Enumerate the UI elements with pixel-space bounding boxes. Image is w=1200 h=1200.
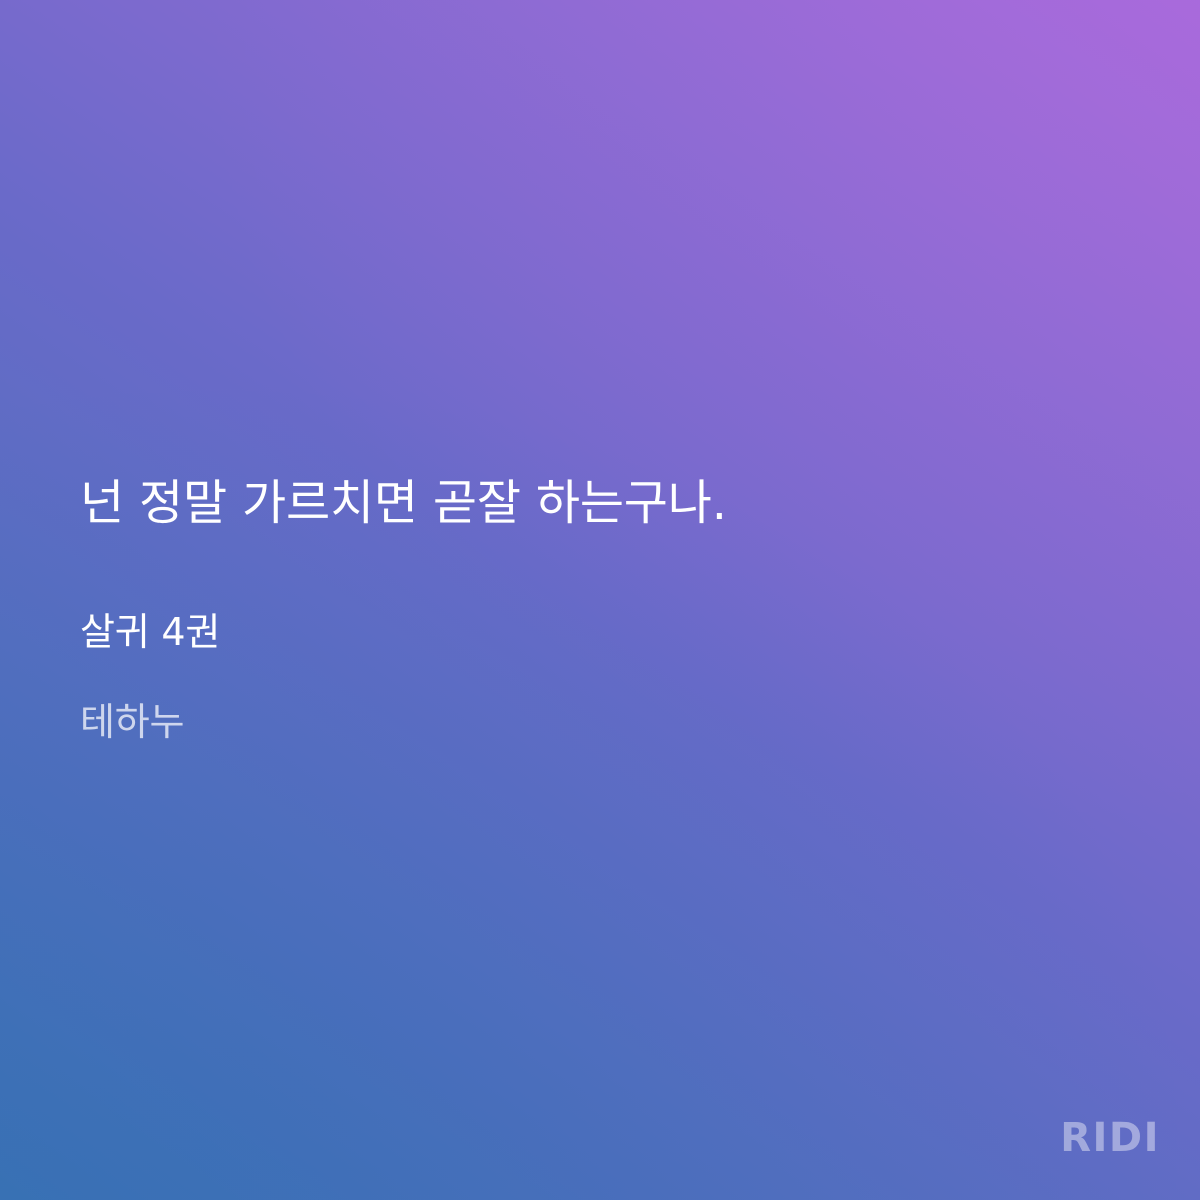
quote-text-block: 넌 정말 가르치면 곧잘 하는구나. 살귀 4권 테하누: [80, 472, 1120, 746]
ridi-logo: RIDI: [1060, 1118, 1160, 1158]
book-title: 살귀 4권: [80, 534, 1120, 656]
book-author: 테하누: [80, 656, 1120, 746]
quote-text: 넌 정말 가르치면 곧잘 하는구나.: [80, 472, 1120, 534]
quote-card: 넌 정말 가르치면 곧잘 하는구나. 살귀 4권 테하누 RIDI: [0, 0, 1200, 1200]
